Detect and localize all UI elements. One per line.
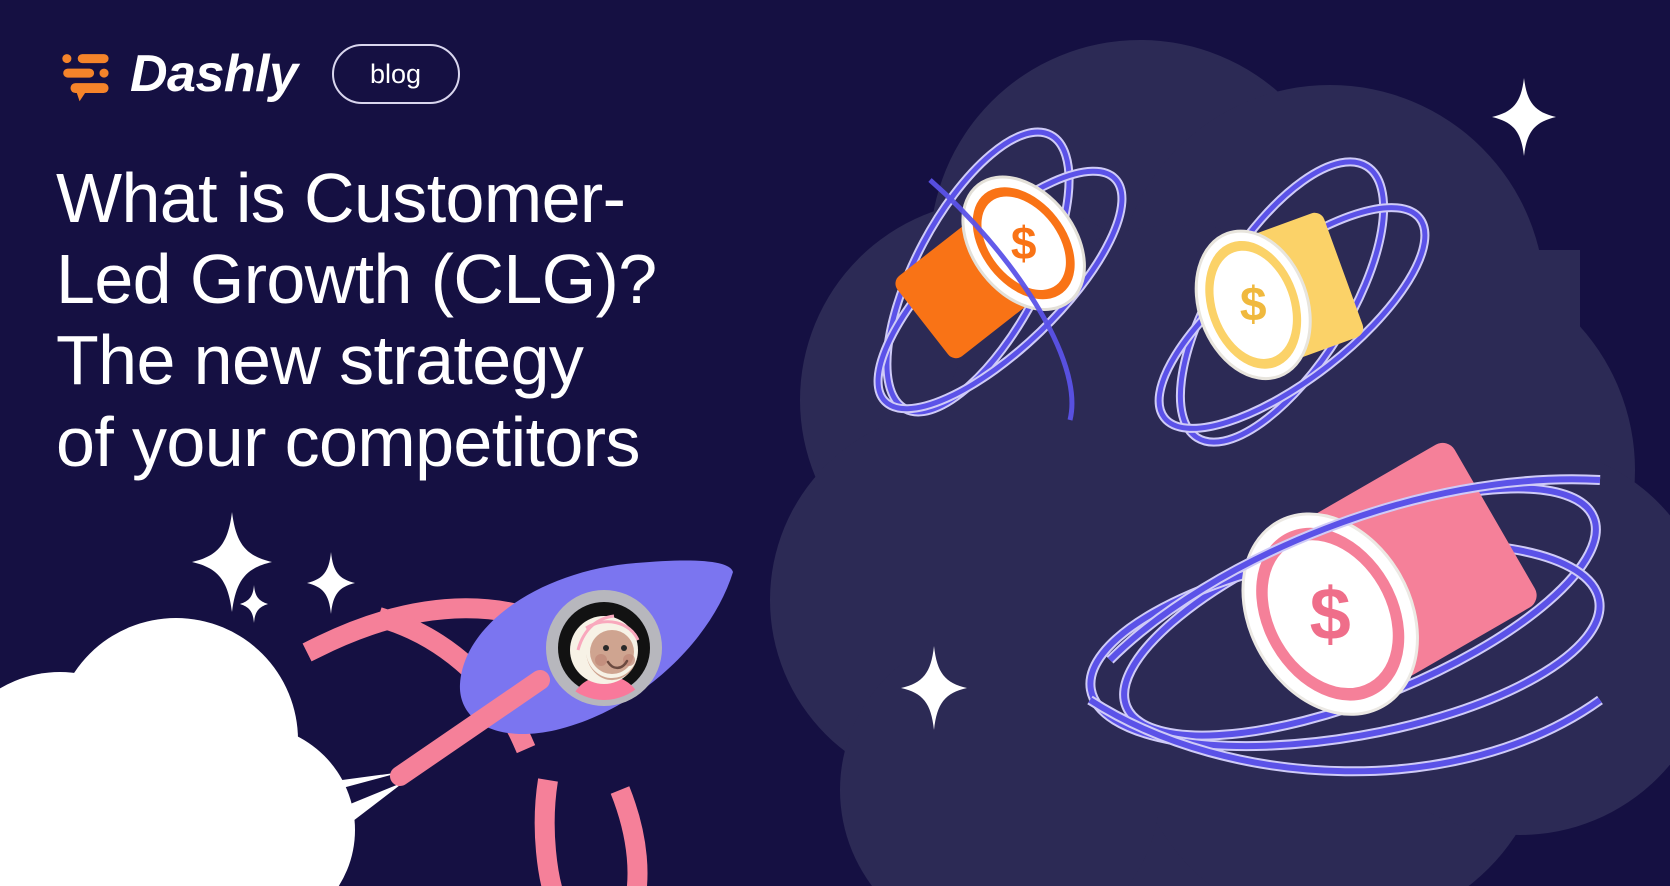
svg-text:$: $ <box>1310 573 1351 656</box>
svg-text:$: $ <box>1011 217 1037 269</box>
blog-badge-label: blog <box>370 61 421 88</box>
brand-logo[interactable]: Dashly <box>56 45 298 103</box>
astronaut-cheek-left <box>595 654 607 666</box>
page-title: What is Customer- Led Growth (CLG)? The … <box>56 158 657 483</box>
astronaut-eye-left <box>603 645 609 651</box>
dashly-speech-bubble-icon <box>56 45 114 103</box>
blog-badge[interactable]: blog <box>332 44 460 104</box>
rocket-fin-lower-a <box>545 780 556 886</box>
site-header: Dashly blog <box>56 44 460 104</box>
svg-text:$: $ <box>1240 278 1267 331</box>
astronaut-eye-right <box>621 645 627 651</box>
brand-wordmark: Dashly <box>130 48 298 100</box>
hero-banner: $ <box>0 0 1670 886</box>
